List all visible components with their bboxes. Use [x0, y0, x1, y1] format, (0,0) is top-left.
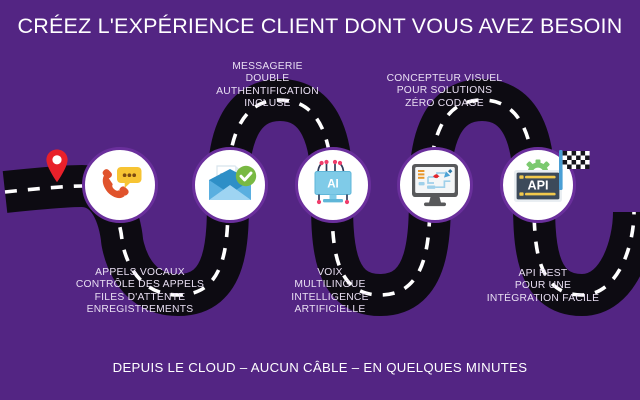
ai-chip-icon: AI — [304, 156, 362, 214]
milestone-label-visual-designer: CONCEPTEUR VISUEL POUR SOLUTIONS ZÉRO CO… — [352, 73, 537, 110]
milestone-label-ai-voice: VOIX MULTILINGUE INTELLIGENCE ARTIFICIEL… — [248, 267, 412, 317]
milestone-icon-ai-voice[interactable]: AI — [295, 147, 371, 223]
phone-chat-icon — [92, 157, 148, 213]
milestone-label-voice: APPELS VOCAUX CONTRÔLE DES APPELS FILES … — [30, 267, 250, 317]
milestone-label-api-rest: API REST POUR UNE INTÉGRATION FACILE — [448, 268, 638, 305]
start-marker — [44, 148, 70, 189]
milestone-label-messaging: MESSAGERIE DOUBLE AUTHENTIFICATION INCLU… — [175, 61, 360, 111]
milestone-icon-visual-designer[interactable] — [397, 147, 473, 223]
infographic-canvas: CRÉEZ L'EXPÉRIENCE CLIENT DONT VOUS AVEZ… — [0, 0, 640, 400]
milestone-icon-messaging[interactable] — [192, 147, 268, 223]
envelope-check-icon — [201, 157, 259, 213]
svg-text:API: API — [528, 179, 549, 193]
workflow-monitor-icon — [406, 157, 464, 213]
finish-marker — [556, 146, 592, 197]
milestone-icon-voice[interactable] — [82, 147, 158, 223]
footer-caption: DEPUIS LE CLOUD – AUCUN CÂBLE – EN QUELQ… — [0, 360, 640, 375]
checkered-flag-icon — [556, 146, 592, 192]
map-pin-icon — [44, 148, 70, 184]
svg-text:AI: AI — [327, 179, 339, 191]
